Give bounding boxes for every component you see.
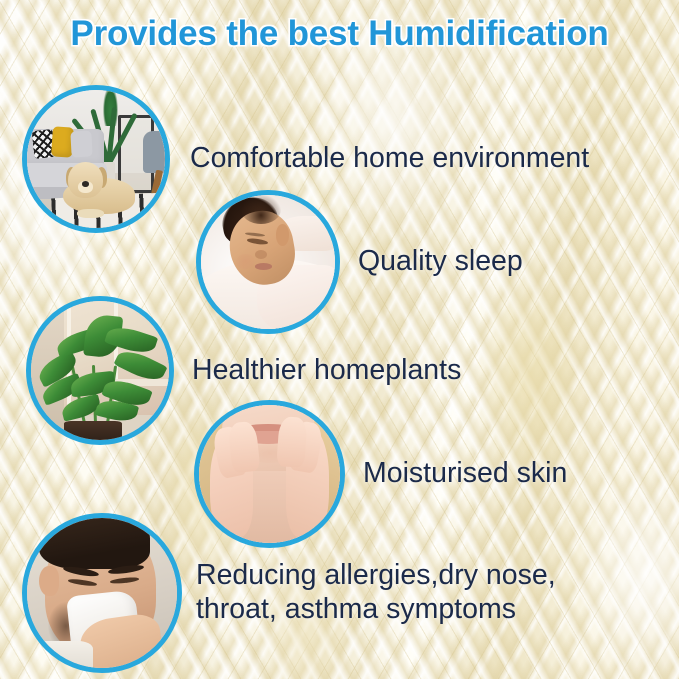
man-blowing-nose-photo [22,513,182,673]
benefit-caption-5: Reducing allergies,dry nose, throat, ast… [196,559,556,626]
humidifier-benefits-poster: Provides the best Humidification [0,0,679,679]
benefit-caption-1: Comfortable home environment [190,142,589,176]
page-title: Provides the best Humidification [0,14,679,54]
benefit-caption-3: Healthier homeplants [192,354,461,388]
benefit-row-5: Reducing allergies,dry nose, throat, ast… [22,513,556,673]
green-houseplant-photo [26,296,174,445]
living-room-with-dog-photo [22,85,170,233]
benefit-caption-4: Moisturised skin [363,457,567,491]
benefit-caption-2: Quality sleep [358,245,523,279]
